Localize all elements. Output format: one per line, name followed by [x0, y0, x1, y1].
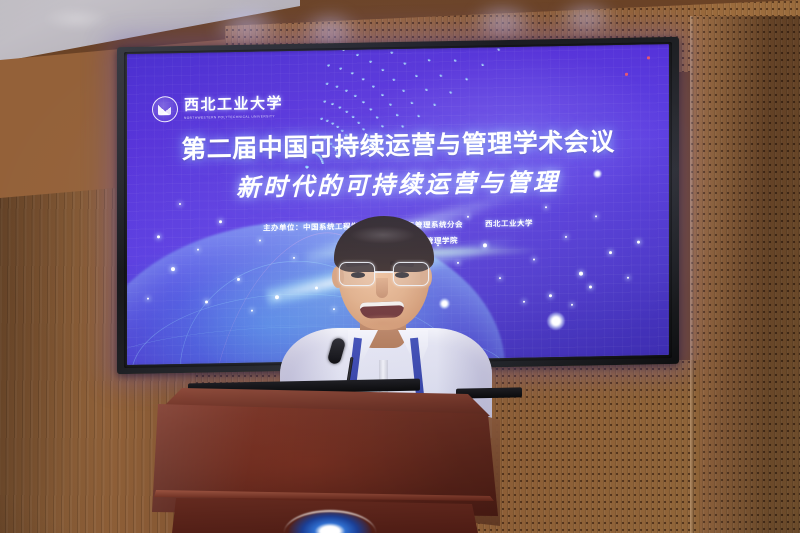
university-logo: 西北工业大学 NORTHWESTERN POLYTECHNICAL UNIVER…: [152, 94, 283, 122]
dead-pixel: [625, 73, 628, 76]
bright-star: [593, 169, 602, 178]
conference-photo-scene: 西北工业大学 NORTHWESTERN POLYTECHNICAL UNIVER…: [0, 0, 800, 533]
nose: [376, 278, 388, 298]
university-name-en: NORTHWESTERN POLYTECHNICAL UNIVERSITY: [184, 114, 283, 120]
glasses-bridge: [375, 271, 393, 273]
wall-seam: [690, 16, 694, 533]
dotted-arc-decoration: [297, 44, 669, 195]
lens-right: [393, 262, 429, 286]
lens-left: [339, 262, 375, 286]
conference-subtitle: 新时代的可持续运营与管理: [236, 162, 560, 203]
university-seal-icon: [152, 96, 178, 122]
acoustic-panel-right: [690, 16, 800, 533]
dead-pixel: [647, 56, 650, 59]
host-org-2: 西北工业大学: [485, 219, 533, 229]
ceiling-light-smudge: [42, 8, 112, 30]
chin-shading: [354, 314, 412, 332]
bright-star: [547, 312, 565, 330]
university-name-cn: 西北工业大学: [184, 96, 283, 113]
conference-title: 第二届中国可持续运营与管理学术会议: [181, 122, 615, 166]
